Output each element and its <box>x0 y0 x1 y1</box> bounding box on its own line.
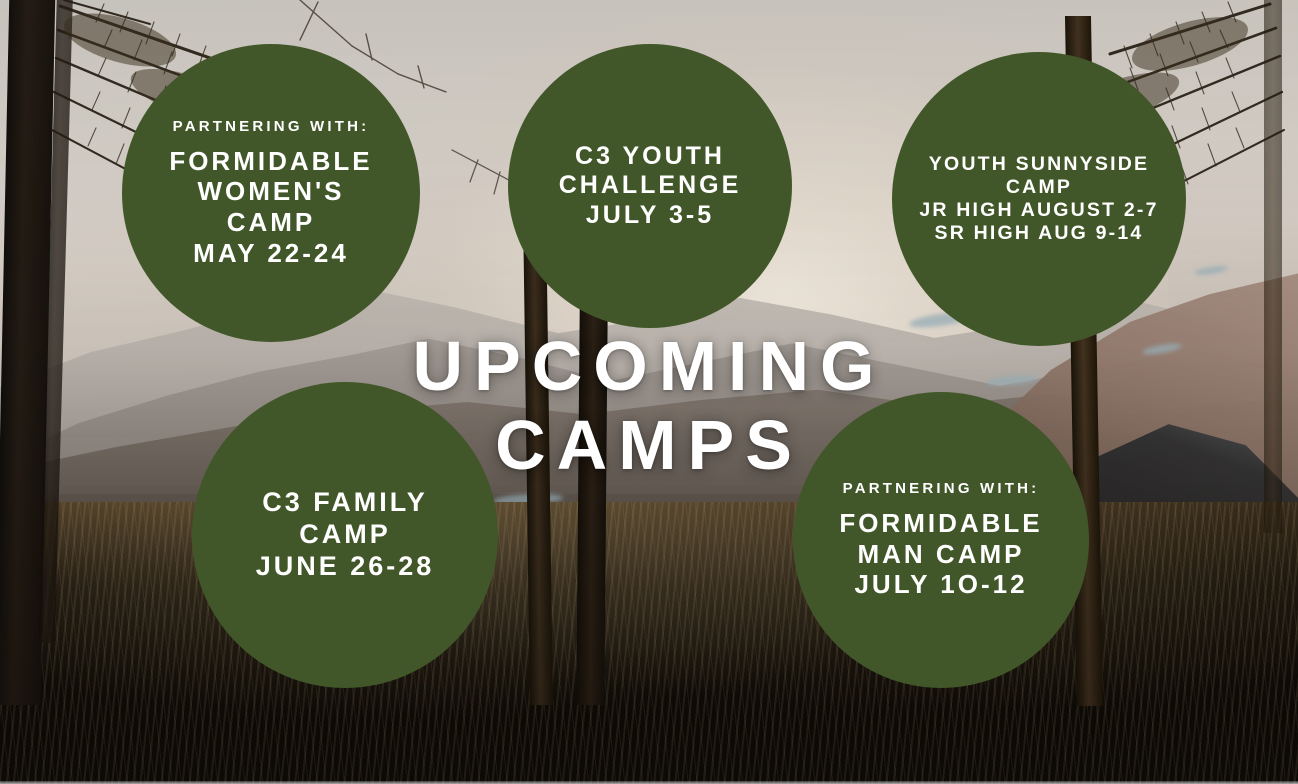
camp-line: JR HIGH AUGUST 2-7 <box>919 199 1158 222</box>
camp-circle-c3-family-camp[interactable]: C3 FAMILY CAMP JUNE 26-28 <box>192 382 498 688</box>
camp-line: WOMEN'S <box>197 176 344 207</box>
camp-line: YOUTH SUNNYSIDE <box>929 153 1149 176</box>
camp-circle-c3-youth-challenge[interactable]: C3 YOUTH CHALLENGE JULY 3-5 <box>508 44 792 328</box>
camp-line: CAMP <box>1006 176 1072 199</box>
camp-circle-youth-sunnyside-camp[interactable]: YOUTH SUNNYSIDE CAMP JR HIGH AUGUST 2-7 … <box>892 52 1186 346</box>
camp-line: C3 FAMILY <box>262 487 428 519</box>
camp-circle-formidable-womens-camp[interactable]: PARTNERING WITH: FORMIDABLE WOMEN'S CAMP… <box>122 44 420 342</box>
camp-line: FORMIDABLE <box>169 146 372 177</box>
camp-line: JULY 1O-12 <box>854 569 1027 600</box>
camp-line: FORMIDABLE <box>839 508 1042 539</box>
camp-line: JULY 3-5 <box>586 201 714 231</box>
camp-line: CHALLENGE <box>559 171 742 201</box>
camp-line: CAMP <box>227 207 316 238</box>
camp-circle-formidable-man-camp[interactable]: PARTNERING WITH: FORMIDABLE MAN CAMP JUL… <box>793 392 1089 688</box>
camp-eyebrow: PARTNERING WITH: <box>173 118 370 137</box>
camp-line: C3 YOUTH <box>575 142 725 172</box>
camp-line: JUNE 26-28 <box>256 551 435 583</box>
camp-line: CAMP <box>299 519 391 551</box>
camp-eyebrow: PARTNERING WITH: <box>843 480 1040 499</box>
camp-line: MAY 22-24 <box>193 238 349 269</box>
camp-line: MAN CAMP <box>858 539 1025 570</box>
upcoming-camps-poster: UPCOMING CAMPS PARTNERING WITH: FORMIDAB… <box>0 0 1298 784</box>
camp-line: SR HIGH AUG 9-14 <box>935 222 1144 245</box>
